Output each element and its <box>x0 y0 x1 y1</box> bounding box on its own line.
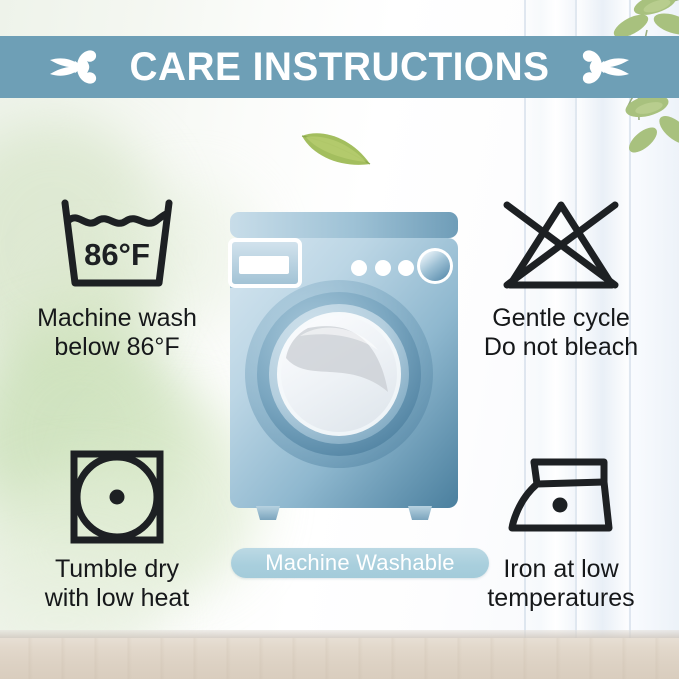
machine-foot <box>408 506 432 520</box>
iron-icon <box>496 447 626 547</box>
machine-top-lid <box>230 212 458 238</box>
indicator-light <box>351 260 367 276</box>
control-dial <box>420 251 450 281</box>
leaf-icon <box>296 124 376 170</box>
washing-machine-illustration <box>228 208 460 530</box>
table-edge <box>0 630 679 638</box>
care-item-label: Gentle cycle Do not bleach <box>484 304 638 362</box>
header-banner: CARE INSTRUCTIONS <box>0 36 679 98</box>
drawer-handle-slot <box>239 256 289 274</box>
crossed-triangle-icon <box>497 196 625 296</box>
fleur-de-lis-icon <box>578 44 632 90</box>
care-instructions-infographic: CARE INSTRUCTIONS 86°F Machine wash belo… <box>0 0 679 679</box>
machine-washable-badge: Machine Washable <box>231 548 489 578</box>
wash-tub-icon: 86°F <box>56 196 178 296</box>
care-item-label: Machine wash below 86°F <box>37 304 197 362</box>
care-item-iron: Iron at low temperatures <box>456 447 666 613</box>
care-item-label: Iron at low temperatures <box>487 555 634 613</box>
badge-label: Machine Washable <box>265 552 454 574</box>
fleur-de-lis-icon <box>47 44 101 90</box>
care-item-machine-wash: 86°F Machine wash below 86°F <box>12 196 222 362</box>
indicator-light <box>375 260 391 276</box>
wood-grain-texture <box>0 638 679 679</box>
heat-level-dot <box>553 498 568 513</box>
machine-foot <box>256 506 280 520</box>
care-item-label: Tumble dry with low heat <box>45 555 190 613</box>
wash-temperature-value: 86°F <box>84 237 150 272</box>
indicator-light <box>398 260 414 276</box>
care-item-tumble-dry: Tumble dry with low heat <box>12 447 222 613</box>
care-item-do-not-bleach: Gentle cycle Do not bleach <box>456 196 666 362</box>
heat-level-dot <box>110 490 125 505</box>
tumble-dry-icon <box>67 447 167 547</box>
page-title: CARE INSTRUCTIONS <box>130 47 550 87</box>
